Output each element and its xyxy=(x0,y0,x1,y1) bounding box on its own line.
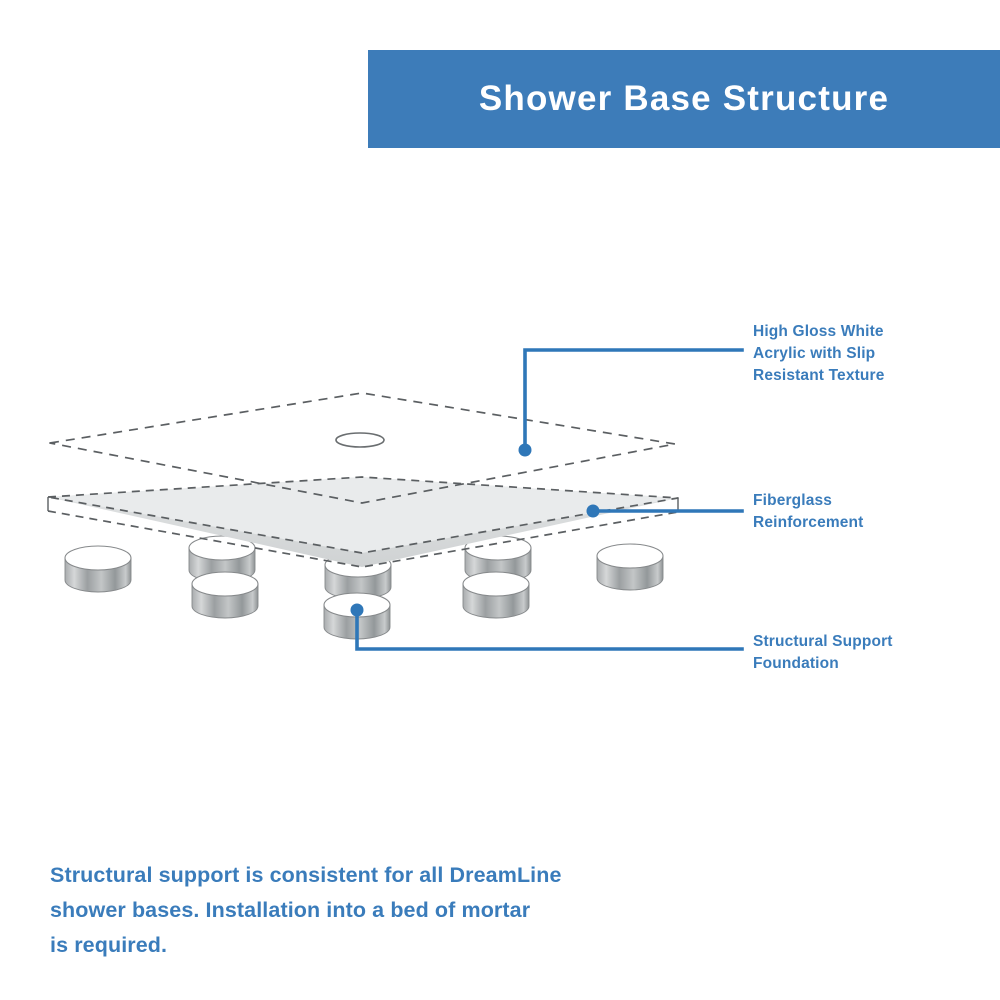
bottom-caption: Structural support is consistent for all… xyxy=(50,858,690,962)
acrylic-top-layer xyxy=(50,393,675,503)
callout-acrylic-line-2: Acrylic with Slip xyxy=(753,343,953,365)
callout-support-line-1: Structural Support xyxy=(753,631,958,653)
callout-fiberglass-line-1: Fiberglass xyxy=(753,490,953,512)
callout-label-acrylic: High Gloss White Acrylic with Slip Resis… xyxy=(753,321,953,387)
support-ring-8 xyxy=(597,544,663,590)
callout-acrylic-line-1: High Gloss White xyxy=(753,321,953,343)
caption-line-2: shower bases. Installation into a bed of… xyxy=(50,893,690,928)
caption-line-3: is required. xyxy=(50,928,690,963)
callout-label-support: Structural Support Foundation xyxy=(753,631,958,675)
support-ring-1 xyxy=(65,546,131,592)
callout-label-fiberglass: Fiberglass Reinforcement xyxy=(753,490,953,534)
acrylic-dashed-outline xyxy=(50,393,675,503)
callout-acrylic-line-3: Resistant Texture xyxy=(753,365,953,387)
support-ring-7 xyxy=(463,572,529,618)
leader-line-support xyxy=(357,610,742,649)
support-ring-3 xyxy=(192,572,258,618)
drain-opening-icon xyxy=(336,433,384,447)
callout-fiberglass-line-2: Reinforcement xyxy=(753,512,953,534)
leader-dot-acrylic xyxy=(519,444,532,457)
caption-line-1: Structural support is consistent for all… xyxy=(50,858,690,893)
leader-dot-support xyxy=(351,604,364,617)
diagram-page: Shower Base Structure xyxy=(0,0,1000,1000)
callout-support-line-2: Foundation xyxy=(753,653,958,675)
leader-dot-fiberglass xyxy=(587,505,600,518)
